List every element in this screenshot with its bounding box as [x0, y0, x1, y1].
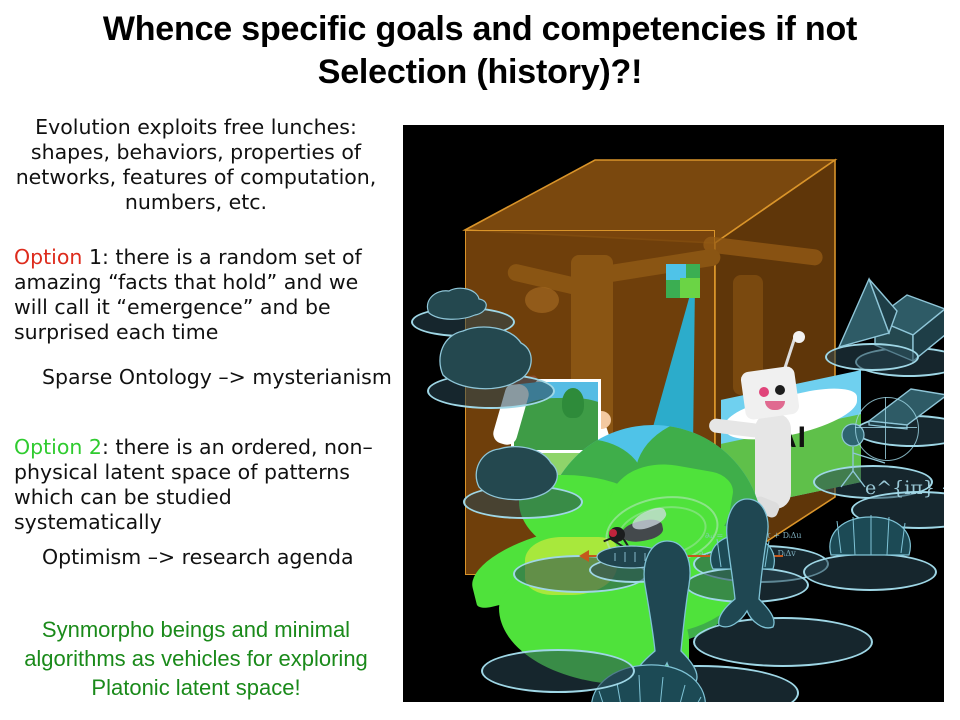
fly-eye [609, 529, 617, 537]
amoeba-creature-3 [469, 443, 569, 503]
geometry-diagram-axis-h [855, 427, 917, 428]
page-title-line-1: Whence specific goals and competencies i… [0, 8, 960, 51]
robot-head [740, 365, 800, 420]
intro-paragraph: Evolution exploits free lunches: shapes,… [6, 115, 386, 215]
option-2-conclusion: Optimism –> research agenda [42, 545, 392, 570]
option-2-keyword: Option 2 [14, 435, 102, 459]
page-title: Whence specific goals and competencies i… [0, 8, 960, 94]
robot-antenna-ball [793, 331, 805, 343]
painting-tree [562, 388, 584, 418]
amoeba-creature-1 [421, 283, 501, 323]
page-title-line-2: Selection (history)?! [0, 51, 960, 94]
bristle-creature-2 [817, 507, 927, 567]
left-text-column: Evolution exploits free lunches: shapes,… [0, 110, 392, 720]
amoeba-creature-2 [433, 323, 545, 393]
robot-eye-right [775, 385, 785, 395]
illustration-panel: AI [403, 125, 944, 702]
latent-patch [666, 264, 700, 298]
option-1-block: Option 1: there is a random set of amazi… [14, 245, 384, 345]
option-1-conclusion: Sparse Ontology –> mysterianism [42, 365, 392, 390]
pyramid-solid-icon [827, 271, 907, 361]
orange-arrow-head [579, 550, 589, 562]
option-1-keyword: Option [14, 245, 82, 269]
option-2-block: Option 2: there is an ordered, non–physi… [14, 435, 384, 535]
geometry-diagram-circle [855, 397, 919, 461]
slide: Whence specific goals and competencies i… [0, 0, 960, 720]
robot-eye-left [759, 387, 769, 397]
platform-disc-front-4 [481, 649, 635, 693]
euler-identity-formula: e^{iπ} + 1 = 0 [865, 477, 944, 499]
tree-foliage-icon [525, 287, 559, 313]
closing-statement: Synmorpho beings and minimal algorithms … [0, 615, 392, 702]
latent-patch-land [680, 278, 700, 298]
geometry-diagram-axis-v [885, 397, 886, 459]
